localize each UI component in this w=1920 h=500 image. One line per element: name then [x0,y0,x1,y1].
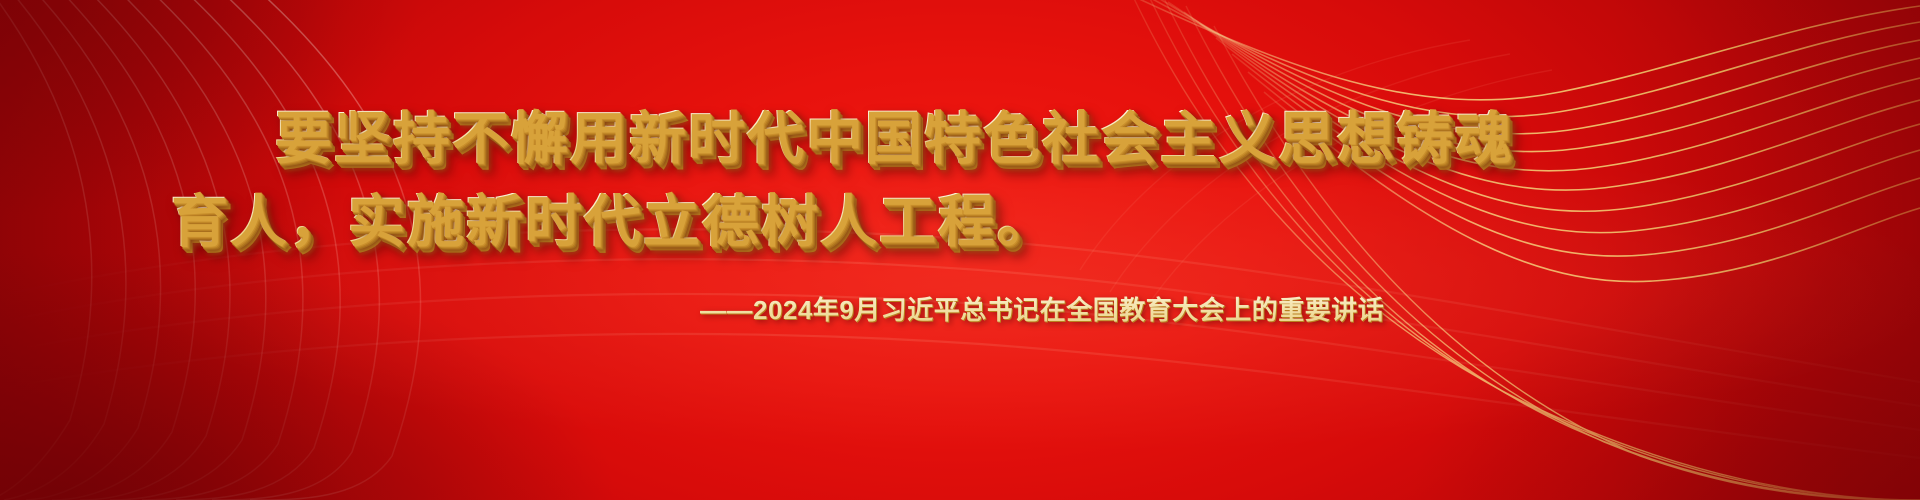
banner-content: 要坚持不懈用新时代中国特色社会主义思想铸魂 育人，实施新时代立德树人工程。 ——… [0,0,1920,500]
headline-line-1: 要坚持不懈用新时代中国特色社会主义思想铸魂 [274,110,1513,167]
speech-attribution: ——2024年9月习近平总书记在全国教育大会上的重要讲话 [700,290,1384,327]
headline-line-2: 育人，实施新时代立德树人工程。 [170,193,1055,250]
propaganda-banner: 要坚持不懈用新时代中国特色社会主义思想铸魂 育人，实施新时代立德树人工程。 ——… [0,0,1920,500]
